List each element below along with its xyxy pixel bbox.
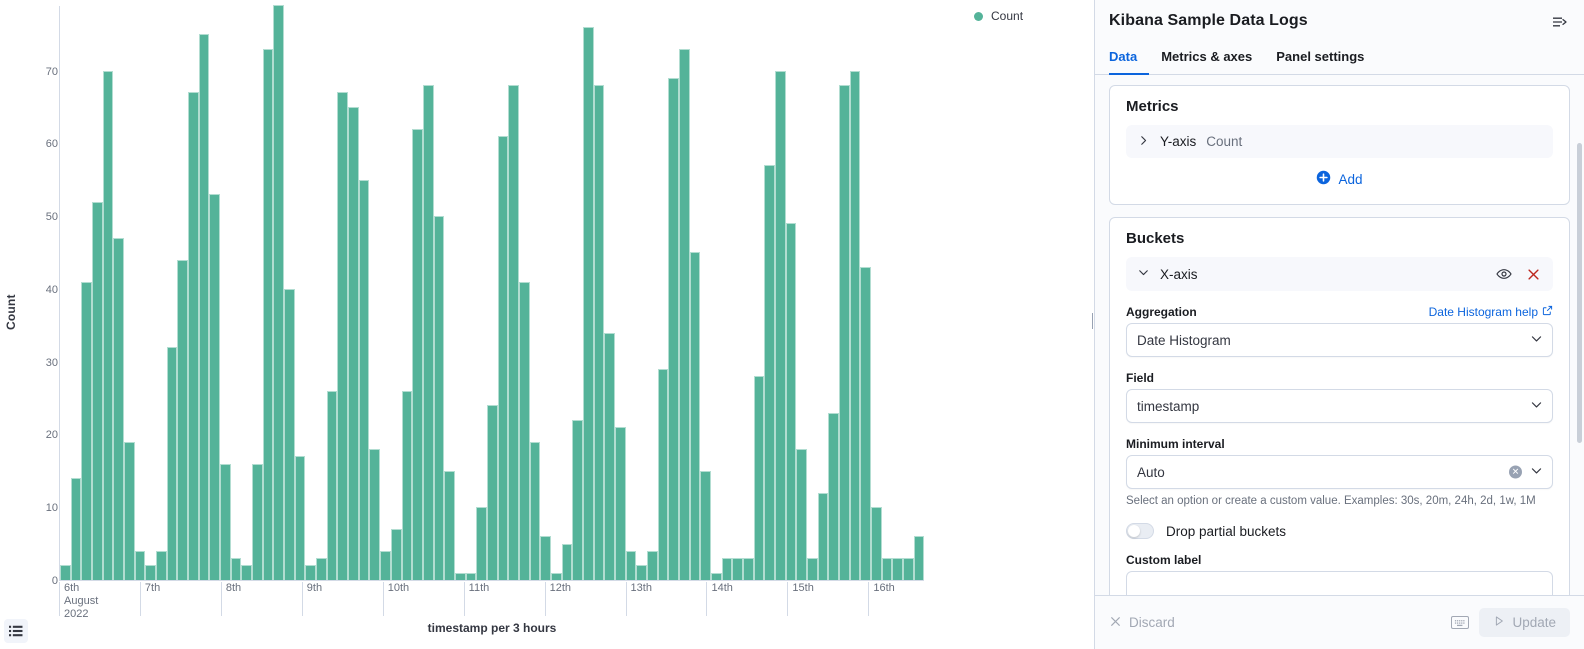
sidebar-footer: Discard Update <box>1095 595 1584 649</box>
bucket-row-label: X-axis <box>1160 267 1198 282</box>
bar[interactable] <box>402 391 413 580</box>
bar[interactable] <box>92 202 103 580</box>
bar[interactable] <box>273 5 284 580</box>
chevron-down-icon <box>1138 267 1150 281</box>
bar[interactable] <box>199 34 210 580</box>
keyboard-shortcuts-icon[interactable] <box>1451 616 1469 629</box>
x-axis-tick-label: 8th <box>221 582 241 616</box>
sidebar-header: Kibana Sample Data Logs <box>1095 0 1584 35</box>
bar[interactable] <box>295 456 306 580</box>
field-label: Field <box>1126 371 1553 385</box>
collapse-panel-icon[interactable] <box>1552 14 1568 35</box>
editor-sidebar: Kibana Sample Data Logs Data Metrics & a… <box>1094 0 1584 649</box>
remove-bucket-icon[interactable] <box>1526 267 1541 282</box>
minimum-interval-hint: Select an option or create a custom valu… <box>1126 494 1553 509</box>
bar[interactable] <box>113 238 124 580</box>
x-axis-tick-label: 13th <box>626 582 652 616</box>
bar[interactable] <box>124 442 135 580</box>
bar[interactable] <box>658 369 669 580</box>
custom-label-label: Custom label <box>1126 553 1553 567</box>
plus-circle-icon <box>1316 170 1331 188</box>
add-metric-button[interactable]: Add <box>1126 158 1553 190</box>
add-metric-label: Add <box>1338 172 1362 187</box>
bar[interactable] <box>540 536 551 580</box>
bar[interactable] <box>252 464 263 580</box>
y-axis-tick-label: 60 <box>18 138 58 150</box>
bar[interactable] <box>914 536 925 580</box>
metrics-panel-title: Metrics <box>1126 98 1553 115</box>
bar[interactable] <box>722 558 733 580</box>
bar[interactable] <box>466 573 477 580</box>
external-link-icon <box>1542 305 1553 319</box>
bar[interactable] <box>562 544 573 580</box>
bar[interactable] <box>487 405 498 580</box>
y-axis-tick-label: 10 <box>18 502 58 514</box>
sidebar-title: Kibana Sample Data Logs <box>1109 12 1308 30</box>
bar[interactable] <box>636 565 647 580</box>
legend-label: Count <box>991 9 1023 23</box>
chevron-down-icon <box>1530 332 1543 348</box>
chart-area: Count Count 010203040506070 6th August 2… <box>0 0 1094 649</box>
bar[interactable] <box>807 558 818 580</box>
bar[interactable] <box>177 260 188 580</box>
x-axis-tick-label: 12th <box>545 582 571 616</box>
x-axis-title: timestamp per 3 hours <box>59 621 925 635</box>
bar[interactable] <box>775 71 786 580</box>
bar[interactable] <box>412 129 423 580</box>
x-axis-tick-label: 15th <box>787 582 813 616</box>
x-axis-tick-label: 6th August 2022 <box>59 582 98 616</box>
plot-area[interactable] <box>59 6 924 581</box>
bar[interactable] <box>156 551 167 580</box>
update-label: Update <box>1512 615 1556 630</box>
bar[interactable] <box>668 78 679 580</box>
x-axis-tick-label: 14th <box>706 582 732 616</box>
bar[interactable] <box>423 85 434 580</box>
bar[interactable] <box>839 85 850 580</box>
bar[interactable] <box>305 565 316 580</box>
legend-toggle-icon[interactable] <box>4 619 28 643</box>
chevron-down-icon <box>1530 464 1543 480</box>
tab-panel-settings[interactable]: Panel settings <box>1264 45 1376 75</box>
bar[interactable] <box>530 442 541 580</box>
bar[interactable] <box>519 282 530 580</box>
bar[interactable] <box>220 464 231 580</box>
bar[interactable] <box>167 347 178 580</box>
bar[interactable] <box>743 558 754 580</box>
x-axis-tick-label: 10th <box>383 582 409 616</box>
bar[interactable] <box>818 493 829 580</box>
bar[interactable] <box>476 507 487 580</box>
scrollbar-thumb[interactable] <box>1577 143 1582 443</box>
bar-series[interactable] <box>60 6 924 580</box>
chevron-down-icon <box>1530 398 1543 414</box>
metric-row-label: Y-axis <box>1160 134 1196 149</box>
bar[interactable] <box>369 449 380 580</box>
bar[interactable] <box>700 471 711 580</box>
x-axis-tick-label: 7th <box>140 582 160 616</box>
bar[interactable] <box>284 289 295 580</box>
kibana-visualize-editor: Count Count 010203040506070 6th August 2… <box>0 0 1584 649</box>
bar[interactable] <box>71 478 82 580</box>
bar[interactable] <box>754 376 765 580</box>
bar[interactable] <box>690 252 701 580</box>
x-axis-tick-label: 11th <box>464 582 490 616</box>
bar[interactable] <box>434 216 445 580</box>
bar[interactable] <box>135 551 146 580</box>
bar[interactable] <box>359 180 370 580</box>
close-icon <box>1109 615 1122 631</box>
bar[interactable] <box>551 573 562 580</box>
minimum-interval-value: Auto <box>1137 465 1165 480</box>
sidebar-tabs[interactable]: Data Metrics & axes Panel settings <box>1095 45 1584 75</box>
bar[interactable] <box>786 223 797 580</box>
help-link-label: Date Histogram help <box>1429 305 1538 319</box>
bar[interactable] <box>882 558 893 580</box>
chevron-right-icon <box>1138 135 1150 149</box>
x-axis-tick-label: 16th <box>868 582 894 616</box>
bar[interactable] <box>145 565 156 580</box>
bucket-row-actions <box>1496 266 1541 282</box>
bar[interactable] <box>615 427 626 580</box>
minimum-interval-select[interactable]: Auto ✕ <box>1126 455 1553 489</box>
chart-legend[interactable]: Count <box>974 9 1023 23</box>
tab-data[interactable]: Data <box>1109 45 1149 75</box>
bar[interactable] <box>380 551 391 580</box>
bucket-row-x-axis[interactable]: X-axis <box>1126 257 1553 291</box>
bar[interactable] <box>348 107 359 580</box>
bar[interactable] <box>679 49 690 580</box>
y-axis-tick-label: 40 <box>18 284 58 296</box>
metric-row-y-axis[interactable]: Y-axis Count <box>1126 125 1553 158</box>
bar[interactable] <box>850 71 861 580</box>
aggregation-label: Aggregation <box>1126 305 1197 319</box>
bar[interactable] <box>81 282 92 580</box>
bar[interactable] <box>391 529 402 580</box>
y-axis-tick-label: 50 <box>18 211 58 223</box>
bar[interactable] <box>604 333 615 580</box>
bar[interactable] <box>626 551 637 580</box>
bar[interactable] <box>828 413 839 580</box>
bar[interactable] <box>583 27 594 580</box>
drop-partial-buckets-label: Drop partial buckets <box>1166 524 1286 539</box>
bar[interactable] <box>903 558 914 580</box>
y-axis-tick-label: 20 <box>18 429 58 441</box>
bar[interactable] <box>241 565 252 580</box>
field-select[interactable]: timestamp <box>1126 389 1553 423</box>
bar[interactable] <box>444 471 455 580</box>
drop-partial-buckets-row[interactable]: Drop partial buckets <box>1126 523 1553 539</box>
drop-partial-buckets-toggle[interactable] <box>1126 523 1154 539</box>
bar[interactable] <box>498 136 509 580</box>
bar[interactable] <box>231 558 242 580</box>
sidebar-scroll-content: Metrics Y-axis Count Add Buckets <box>1095 75 1584 595</box>
bar[interactable] <box>594 85 605 580</box>
aggregation-value: Date Histogram <box>1137 333 1231 348</box>
bar[interactable] <box>711 573 722 580</box>
bar[interactable] <box>508 85 519 580</box>
custom-label-input[interactable] <box>1126 571 1553 595</box>
bar[interactable] <box>263 49 274 580</box>
y-axis-ticks: 010203040506070 <box>14 0 58 649</box>
tab-metrics-axes[interactable]: Metrics & axes <box>1149 45 1264 75</box>
bar[interactable] <box>455 573 466 580</box>
bar[interactable] <box>892 558 903 580</box>
play-icon <box>1493 615 1505 630</box>
buckets-panel-title: Buckets <box>1126 230 1553 247</box>
toggle-knob <box>1128 525 1140 537</box>
bar[interactable] <box>764 165 775 580</box>
y-axis-tick-label: 30 <box>18 357 58 369</box>
minimum-interval-label: Minimum interval <box>1126 437 1553 451</box>
bar[interactable] <box>860 267 871 580</box>
discard-button[interactable]: Discard <box>1109 615 1175 631</box>
date-histogram-help-link[interactable]: Date Histogram help <box>1429 305 1553 319</box>
x-axis-tick-label: 9th <box>302 582 322 616</box>
bar[interactable] <box>327 391 338 580</box>
update-button[interactable]: Update <box>1479 608 1570 637</box>
bar[interactable] <box>647 551 658 580</box>
legend-color-swatch <box>974 12 983 21</box>
clear-icon[interactable]: ✕ <box>1509 466 1522 479</box>
y-axis-tick-label: 0 <box>18 575 58 587</box>
bar[interactable] <box>796 449 807 580</box>
bar[interactable] <box>60 565 71 580</box>
sidebar-scrollbar[interactable] <box>1577 139 1582 595</box>
eye-icon[interactable] <box>1496 266 1512 282</box>
field-value: timestamp <box>1137 399 1199 414</box>
aggregation-field-row: Aggregation Date Histogram help <box>1126 305 1553 319</box>
aggregation-select[interactable]: Date Histogram <box>1126 323 1553 357</box>
bar[interactable] <box>103 71 114 580</box>
bar[interactable] <box>871 507 882 580</box>
metric-row-value: Count <box>1206 134 1242 149</box>
bar[interactable] <box>732 558 743 580</box>
buckets-panel: Buckets X-axis <box>1109 217 1570 595</box>
bar[interactable] <box>337 92 348 580</box>
bar[interactable] <box>316 558 327 580</box>
bar[interactable] <box>188 92 199 580</box>
bar[interactable] <box>572 420 583 580</box>
y-axis-tick-label: 70 <box>18 66 58 78</box>
discard-label: Discard <box>1129 615 1175 630</box>
bar[interactable] <box>209 194 220 580</box>
metrics-panel: Metrics Y-axis Count Add <box>1109 85 1570 205</box>
